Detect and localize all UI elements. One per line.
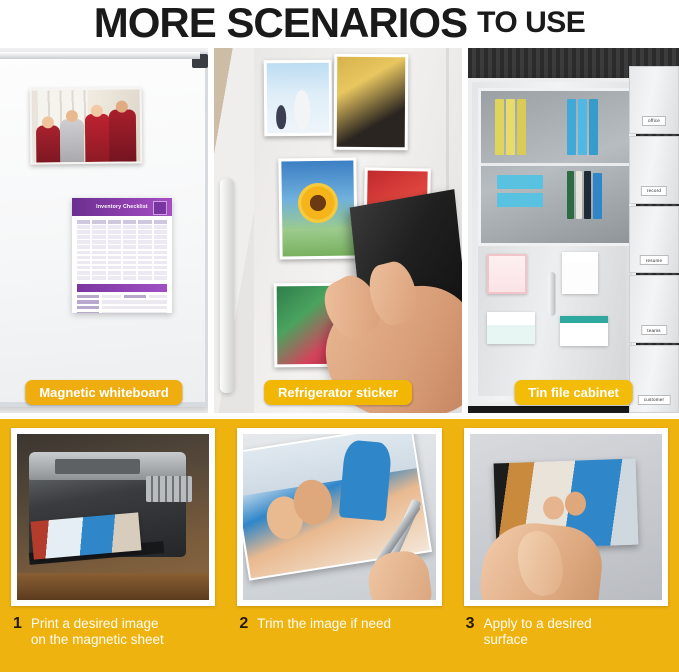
fridge-photo-doll [334, 54, 409, 151]
whiteboard-frame-edge [0, 52, 200, 59]
step-1-text: Print a desired image on the magnetic sh… [31, 616, 164, 648]
whiteboard-photo [30, 87, 143, 164]
step-1-caption: 1 Print a desired image on the magnetic … [11, 606, 215, 648]
step-3-text: Apply to a desired surface [484, 616, 592, 648]
scene-label-magnetic-whiteboard: Magnetic whiteboard [25, 380, 182, 405]
sunflower-bloom [298, 183, 339, 224]
drawer-label-office: office [642, 116, 666, 126]
step-2: 2 Trim the image if need [226, 428, 452, 672]
step-3: 3 Apply to a desired surface [453, 428, 679, 672]
refrigerator-handle [220, 178, 234, 393]
step-2-photo [243, 434, 435, 600]
document-section-bar [77, 284, 167, 292]
page-title: MORE SCENARIOS TO USE [0, 0, 679, 46]
cabinet-handle [549, 272, 556, 316]
headline-primary: MORE SCENARIOS [94, 2, 467, 44]
step-2-number: 2 [239, 616, 248, 632]
step-1-line-2: on the magnetic sheet [31, 632, 164, 647]
document-header: Inventory Checklist [72, 198, 172, 216]
scene-refrigerator-sticker: Refrigerator sticker [214, 48, 462, 413]
scene-tin-file-cabinet: office record resume teams customer Tin … [468, 48, 679, 413]
document-logo [153, 201, 167, 215]
step-2-frame [237, 428, 441, 606]
drawer-customer: customer [629, 345, 679, 413]
door-note-teal [560, 316, 608, 346]
drawer-label-teams: teams [641, 325, 667, 335]
file-cabinet [468, 78, 636, 406]
fridge-photo-sunflower [278, 157, 357, 259]
drawer-label-resume: resume [640, 255, 669, 265]
step-1-frame [11, 428, 215, 606]
door-note-floral [562, 252, 598, 294]
step-3-caption: 3 Apply to a desired surface [464, 606, 668, 648]
scissors [347, 497, 432, 600]
document-footer-fields [72, 295, 172, 313]
cabinet-drawer-column: office record resume teams customer [629, 48, 679, 413]
document-title: Inventory Checklist [96, 204, 148, 210]
drawer-office: office [629, 66, 679, 134]
step-3-number: 3 [466, 616, 475, 632]
step-3-frame [464, 428, 668, 606]
door-note-pink [487, 254, 527, 294]
scenario-row: Inventory Checklist [0, 48, 679, 413]
printer-keypad [146, 476, 192, 503]
step-1: 1 Print a desired image on the magnetic … [0, 428, 226, 672]
step-1-number: 1 [13, 616, 22, 632]
step-3-line-2: surface [484, 632, 528, 647]
drawer-resume: resume [629, 206, 679, 274]
drawer-record: record [629, 136, 679, 204]
product-infographic: MORE SCENARIOS TO USE [0, 0, 679, 672]
inventory-checklist-document: Inventory Checklist [72, 198, 172, 313]
steps-row: 1 Print a desired image on the magnetic … [0, 428, 679, 672]
step-3-line-1: Apply to a desired [484, 616, 592, 631]
drawer-label-record: record [641, 186, 667, 196]
scene-label-tin-file-cabinet: Tin file cabinet [514, 380, 633, 405]
cabinet-glass-doors [478, 88, 632, 246]
fridge-photo-snow [264, 60, 333, 137]
step-3-photo [470, 434, 662, 600]
document-table [72, 216, 172, 280]
steps-section: 1 Print a desired image on the magnetic … [0, 419, 679, 672]
step-1-line-1: Print a desired image [31, 616, 159, 631]
scene-label-refrigerator-sticker: Refrigerator sticker [264, 380, 412, 405]
step-2-caption: 2 Trim the image if need [237, 606, 441, 632]
cabinet-lower-doors [478, 246, 626, 396]
scene-magnetic-whiteboard: Inventory Checklist [0, 48, 208, 413]
drawer-label-customer: customer [638, 395, 671, 405]
headline-secondary: TO USE [477, 8, 585, 38]
step-1-photo [17, 434, 209, 600]
drawer-teams: teams [629, 275, 679, 343]
door-note-chart [487, 312, 535, 344]
step-2-text: Trim the image if need [257, 616, 391, 632]
